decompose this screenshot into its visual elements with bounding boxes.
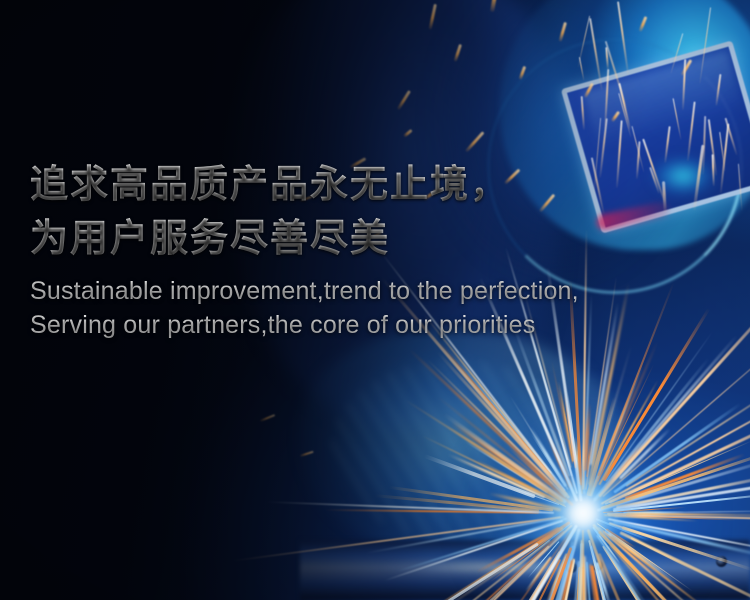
spark-streak xyxy=(385,520,564,581)
spark-streak xyxy=(474,459,556,502)
subhead-line-2: Serving our partners,the core of our pri… xyxy=(30,308,690,342)
spark-streak xyxy=(609,534,656,571)
spark-streak xyxy=(625,372,750,487)
spark-streak xyxy=(591,546,646,600)
spark-streak xyxy=(586,440,592,477)
spark-streak xyxy=(453,551,561,600)
spark-streak xyxy=(527,320,573,476)
spark-streak xyxy=(607,510,750,514)
spark-streak xyxy=(423,455,535,499)
visor-spark xyxy=(720,132,726,172)
spark-streak xyxy=(603,507,686,513)
steel-workpiece xyxy=(300,540,750,600)
spark-ember xyxy=(519,66,527,80)
spark-streak xyxy=(453,505,542,513)
spark-streak xyxy=(584,403,591,471)
spark-ember xyxy=(490,0,499,12)
visor-spark xyxy=(708,119,717,176)
spark-streak xyxy=(529,427,567,488)
spark-streak xyxy=(631,537,698,572)
spark-ember xyxy=(559,22,567,42)
visor-spark xyxy=(617,2,629,75)
visor-spark xyxy=(738,163,743,210)
spark-streak xyxy=(626,513,750,517)
spark-streak xyxy=(489,535,553,583)
spark-ember xyxy=(465,131,485,152)
spark-ember xyxy=(584,83,594,99)
visor-spark xyxy=(712,154,716,187)
spark-streak xyxy=(599,535,621,564)
spark-streak xyxy=(547,411,578,497)
spark-streak xyxy=(232,516,561,562)
spark-streak xyxy=(587,345,633,499)
spark-streak xyxy=(626,515,736,521)
spark-streak xyxy=(598,364,655,482)
spark-streak xyxy=(608,404,750,503)
spark-streak xyxy=(457,457,567,506)
spark-streak xyxy=(450,421,563,501)
workpiece-hole xyxy=(592,560,603,571)
spark-streak xyxy=(622,526,750,571)
spark-streak xyxy=(530,433,563,483)
spark-streak xyxy=(266,501,553,514)
spark-ember xyxy=(300,451,314,457)
spark-streak xyxy=(432,533,555,600)
spark-streak xyxy=(397,518,567,572)
spark-streak xyxy=(477,530,572,600)
spark-streak xyxy=(404,399,548,492)
spark-streak xyxy=(618,427,671,479)
spark-streak xyxy=(447,454,545,499)
headline-line-2: 为用户服务尽善尽美 xyxy=(30,212,690,266)
spark-streak xyxy=(608,518,750,556)
spark-streak xyxy=(596,451,651,502)
spark-streak xyxy=(607,532,650,566)
spark-streak xyxy=(512,323,571,477)
spark-streak xyxy=(609,544,732,600)
workpiece-hole xyxy=(566,562,577,573)
spark-streak xyxy=(374,494,538,512)
spark-streak xyxy=(604,530,679,587)
spark-streak xyxy=(479,539,569,600)
spark-streak xyxy=(508,541,575,600)
spark-streak xyxy=(592,524,713,600)
subhead-line-1: Sustainable improvement,trend to the per… xyxy=(30,274,690,308)
spark-streak xyxy=(388,540,550,600)
welding-hero-banner: 追求高品质产品永无止境， 为用户服务尽善尽美 Sustainable impro… xyxy=(0,0,750,600)
spark-streak xyxy=(605,547,657,600)
spark-streak xyxy=(573,436,581,484)
spark-streak xyxy=(434,545,549,600)
spark-streak xyxy=(627,440,750,495)
spark-streak xyxy=(592,526,621,564)
spark-streak xyxy=(444,345,561,487)
workpiece-hole xyxy=(716,556,727,567)
visor-spark xyxy=(605,46,609,69)
spark-streak xyxy=(605,331,712,481)
spark-streak xyxy=(613,490,750,512)
spark-streak xyxy=(614,513,669,517)
spark-streak xyxy=(619,480,655,498)
spark-streak xyxy=(615,472,750,509)
visor-spark xyxy=(702,117,706,176)
visor-spark xyxy=(720,123,730,193)
spark-streak xyxy=(489,492,562,512)
spark-streak xyxy=(608,514,750,523)
spark-streak xyxy=(596,535,691,600)
spark-streak xyxy=(596,518,650,542)
spark-streak xyxy=(601,448,750,510)
spark-streak xyxy=(609,522,680,547)
spark-streak xyxy=(422,435,566,507)
spark-streak xyxy=(451,527,576,600)
spark-streak xyxy=(564,394,577,468)
headline-line-1: 追求高品质产品永无止境， xyxy=(30,158,690,212)
visor-spark xyxy=(579,57,585,81)
spark-streak xyxy=(604,442,644,489)
visor-spark xyxy=(581,96,585,130)
spark-streak xyxy=(324,510,538,514)
spark-streak xyxy=(500,452,558,495)
spark-streak xyxy=(611,535,714,600)
spark-streak xyxy=(506,522,571,565)
spark-streak xyxy=(604,452,718,505)
visor-sheen xyxy=(583,50,744,149)
spark-streak xyxy=(604,548,698,600)
spark-streak xyxy=(362,542,539,600)
visor-spark xyxy=(687,101,696,161)
welding-glove xyxy=(300,330,630,560)
spark-streak xyxy=(567,391,578,465)
spark-streak xyxy=(434,524,573,600)
spark-streak xyxy=(528,541,560,578)
visor-spark xyxy=(692,144,703,210)
spark-streak xyxy=(582,442,584,488)
spark-streak xyxy=(588,540,619,600)
spark-streak xyxy=(558,380,574,461)
slogan-block: 追求高品质产品永无止境， 为用户服务尽善尽美 Sustainable impro… xyxy=(30,158,690,342)
visor-spark xyxy=(605,41,627,107)
spark-streak xyxy=(582,567,584,600)
spark-streak xyxy=(596,455,750,512)
spark-streak xyxy=(536,547,572,600)
spark-streak xyxy=(510,395,569,489)
spark-streak xyxy=(436,351,570,499)
spark-streak xyxy=(574,543,583,600)
spark-streak xyxy=(418,526,563,600)
spark-streak xyxy=(598,527,733,600)
spark-streak xyxy=(589,364,644,497)
spark-streak xyxy=(615,537,664,574)
visor-spark xyxy=(671,34,684,74)
spark-streak xyxy=(598,530,691,600)
spark-streak xyxy=(597,523,693,592)
weld-arc-core xyxy=(508,438,658,588)
spark-streak xyxy=(429,531,565,600)
spark-streak xyxy=(603,531,662,582)
spark-streak xyxy=(438,525,578,600)
spark-ember xyxy=(681,59,693,76)
spark-ember xyxy=(397,90,411,110)
spark-streak xyxy=(604,514,698,522)
spark-streak xyxy=(408,349,553,486)
spark-streak xyxy=(582,556,589,600)
spark-streak xyxy=(616,481,681,505)
spark-streak xyxy=(627,511,664,514)
spark-streak xyxy=(545,553,569,600)
spark-streak xyxy=(594,341,659,488)
spark-streak xyxy=(602,318,750,497)
spark-streak xyxy=(436,395,548,486)
spark-ember xyxy=(639,16,648,32)
spark-streak xyxy=(619,531,750,600)
spark-streak xyxy=(365,516,564,554)
spark-streak xyxy=(606,528,637,549)
spark-streak xyxy=(577,540,583,600)
spark-streak xyxy=(625,453,747,500)
visor-spark xyxy=(618,93,631,138)
spark-streak xyxy=(513,556,568,600)
spark-streak xyxy=(599,379,659,485)
spark-ember xyxy=(611,111,620,123)
spark-ember xyxy=(260,414,276,422)
spark-streak xyxy=(427,359,567,498)
spark-streak xyxy=(389,486,553,511)
spark-streak xyxy=(503,485,559,505)
glove-fabric-folds xyxy=(330,360,580,540)
spark-streak xyxy=(612,520,750,560)
spark-streak xyxy=(546,434,572,488)
spark-streak xyxy=(501,522,572,577)
spark-streak xyxy=(507,445,574,506)
spark-streak xyxy=(465,441,549,494)
spark-streak xyxy=(445,424,564,503)
visor-spark xyxy=(619,83,632,130)
visor-spark xyxy=(716,74,722,106)
spark-streak xyxy=(475,526,559,573)
spark-streak xyxy=(601,382,750,505)
spark-streak xyxy=(416,537,570,600)
spark-streak xyxy=(598,553,656,600)
visor-spark xyxy=(725,118,738,156)
visor-spark xyxy=(673,98,682,140)
spark-ember xyxy=(429,4,437,30)
spark-streak xyxy=(613,403,741,494)
spark-streak xyxy=(484,559,562,600)
spark-streak xyxy=(525,557,552,593)
visor-spark xyxy=(578,16,591,68)
spark-streak xyxy=(607,513,736,516)
visor-spark xyxy=(589,17,603,90)
spark-streak xyxy=(593,358,710,502)
spark-streak xyxy=(437,340,554,479)
spark-ember xyxy=(403,129,413,138)
visor-spark xyxy=(699,7,711,83)
spark-streak xyxy=(551,361,573,464)
spark-streak xyxy=(443,413,568,504)
workpiece-highlight xyxy=(360,560,660,574)
visor-spark xyxy=(682,59,686,110)
spark-ember xyxy=(454,44,462,62)
weld-arc-halo xyxy=(420,350,750,600)
spark-streak xyxy=(623,511,685,515)
spark-streak xyxy=(586,396,616,496)
spark-streak xyxy=(485,527,562,577)
spark-streak xyxy=(603,545,681,600)
spark-streak xyxy=(612,460,750,511)
spark-streak xyxy=(582,530,586,600)
spark-streak xyxy=(577,542,584,600)
spark-streak xyxy=(592,427,660,503)
spark-streak xyxy=(590,546,623,600)
spark-streak xyxy=(612,334,738,480)
spark-streak xyxy=(576,439,582,494)
visor-spark xyxy=(605,70,610,130)
